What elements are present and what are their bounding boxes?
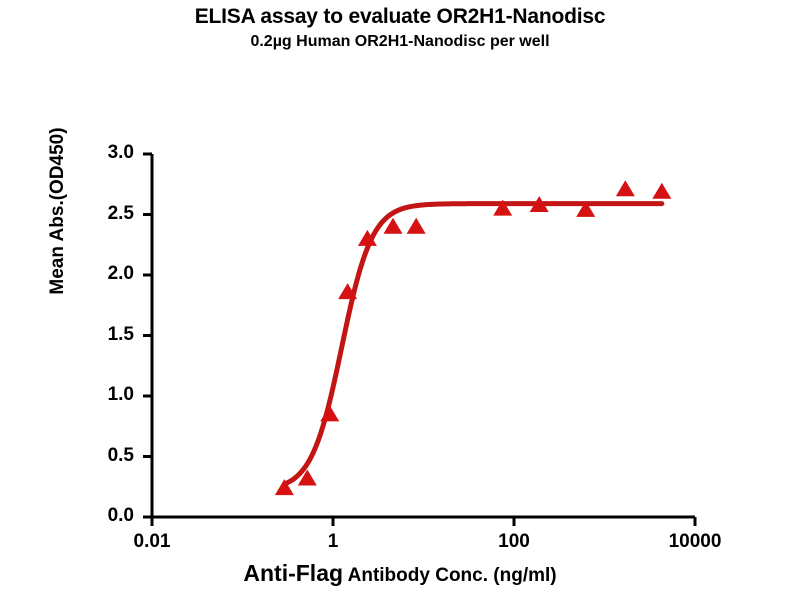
plot-area — [0, 0, 800, 600]
data-point-marker — [407, 218, 426, 234]
axis-ticks — [143, 154, 695, 526]
data-point-marker — [616, 180, 635, 196]
data-markers — [275, 180, 671, 495]
axes-lines — [152, 154, 695, 517]
chart-figure: ELISA assay to evaluate OR2H1-Nanodisc 0… — [0, 0, 800, 600]
data-point-marker — [652, 183, 671, 199]
data-point-marker — [320, 405, 339, 421]
fit-curve — [284, 204, 661, 484]
